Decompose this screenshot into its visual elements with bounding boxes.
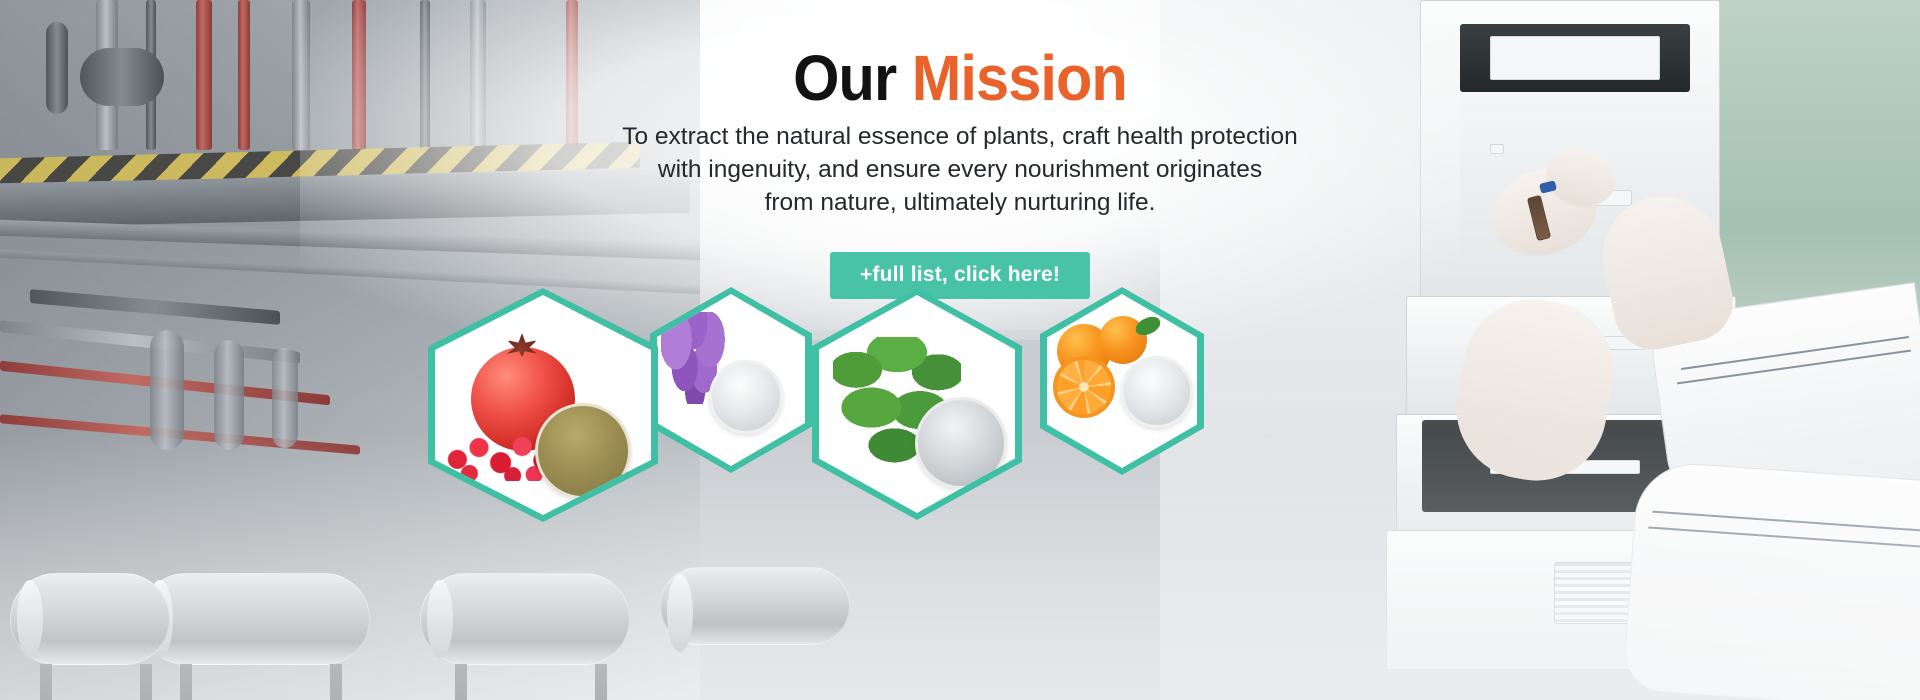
mission-line-3: from nature, ultimately nurturing life. bbox=[0, 186, 1920, 219]
citrus-leaf-icon bbox=[1133, 313, 1163, 338]
title-word-our: Our bbox=[793, 42, 896, 114]
orange-half-image bbox=[1053, 356, 1115, 418]
hexagon-image-sage bbox=[657, 294, 805, 466]
hero-banner: Our Mission To extract the natural essen… bbox=[0, 0, 1920, 700]
hexagon-image-citrus bbox=[1047, 294, 1197, 468]
mission-line-2: with ingenuity, and ensure every nourish… bbox=[0, 153, 1920, 186]
white-powder-image bbox=[709, 360, 783, 434]
title-word-mission: Mission bbox=[912, 42, 1127, 114]
page-title: Our Mission bbox=[67, 46, 1853, 110]
hexagon-image-basil bbox=[819, 295, 1015, 513]
full-list-cta-button[interactable]: +full list, click here! bbox=[830, 252, 1090, 299]
mission-description: To extract the natural essence of plants… bbox=[0, 120, 1920, 219]
white-powder-image bbox=[1121, 356, 1193, 428]
grey-powder-image bbox=[915, 397, 1007, 489]
mission-line-1: To extract the natural essence of plants… bbox=[0, 120, 1920, 153]
hexagon-image-pomegranate bbox=[435, 295, 651, 515]
